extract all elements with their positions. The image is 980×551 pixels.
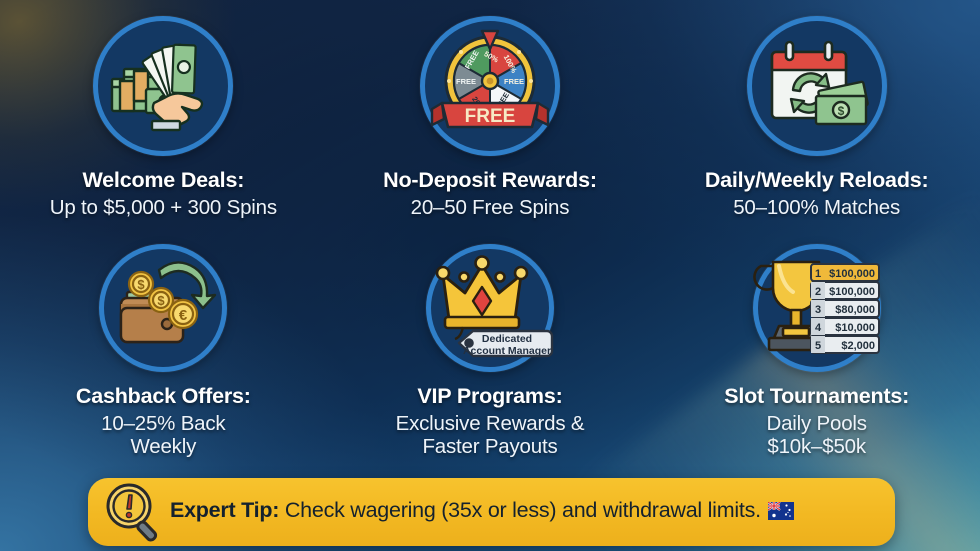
calendar-reload-icon: $ bbox=[747, 16, 887, 156]
card-daily-weekly-reloads[interactable]: $ Daily/Weekly Reloads: 50–100% Matches bbox=[653, 0, 980, 232]
expert-tip-label: Expert Tip: bbox=[170, 498, 279, 522]
leaderboard-prize: $10,000 bbox=[835, 322, 875, 334]
cash-stack-icon bbox=[93, 16, 233, 156]
card-labels: Cashback Offers: 10–25% Back Weekly bbox=[76, 384, 251, 458]
card-title: Cashback Offers: bbox=[76, 384, 251, 409]
vip-tag-line-2: Account Manager bbox=[463, 345, 551, 357]
card-no-deposit-rewards[interactable]: 50% 100% FREE FREE 20% FREE FREE bbox=[327, 0, 654, 232]
card-subtitle-1: Daily Pools bbox=[724, 412, 909, 435]
svg-text:FREE: FREE bbox=[504, 77, 524, 86]
card-title: Daily/Weekly Reloads: bbox=[705, 168, 929, 193]
vip-tag-line-1: Dedicated bbox=[482, 333, 532, 345]
svg-text:€: € bbox=[179, 307, 188, 324]
benefits-grid: Welcome Deals: Up to $5,000 + 300 Spins bbox=[0, 0, 980, 470]
card-labels: Daily/Weekly Reloads: 50–100% Matches bbox=[705, 168, 929, 219]
card-subtitle-1: Up to $5,000 + 300 Spins bbox=[50, 196, 277, 219]
card-labels: No-Deposit Rewards: 20–50 Free Spins bbox=[383, 168, 597, 219]
svg-text:$: $ bbox=[158, 293, 166, 308]
card-subtitle-2: Faster Payouts bbox=[396, 435, 585, 458]
wheel-banner-label: FREE bbox=[465, 106, 516, 127]
card-subtitle-2: $10k–$50k bbox=[724, 435, 909, 458]
card-subtitle-1: Exclusive Rewards & bbox=[396, 412, 585, 435]
leaderboard-rank: 2 bbox=[815, 286, 821, 298]
leaderboard-prize: $80,000 bbox=[835, 304, 875, 316]
expert-tip-text: Expert Tip: Check wagering (35x or less)… bbox=[170, 498, 794, 526]
leaderboard-prize: $100,000 bbox=[829, 286, 875, 298]
card-subtitle-1: 20–50 Free Spins bbox=[383, 196, 597, 219]
card-vip-programs[interactable]: Dedicated Account Manager VIP Programs: … bbox=[327, 232, 654, 470]
expert-tip-body: Check wagering (35x or less) and withdra… bbox=[279, 498, 761, 522]
card-title: Welcome Deals: bbox=[50, 168, 277, 193]
svg-text:$: $ bbox=[138, 277, 146, 292]
leaderboard-rank: 1 bbox=[815, 268, 821, 280]
leaderboard-rank: 4 bbox=[815, 322, 822, 334]
leaderboard-rank: 5 bbox=[815, 340, 821, 352]
benefits-infographic: Welcome Deals: Up to $5,000 + 300 Spins bbox=[0, 0, 980, 551]
card-title: VIP Programs: bbox=[396, 384, 585, 409]
leaderboard-prize: $100,000 bbox=[829, 268, 875, 280]
card-labels: Slot Tournaments: Daily Pools $10k–$50k bbox=[724, 384, 909, 458]
card-cashback-offers[interactable]: $ $ € Cashback Offers: 10–25% Back Weekl… bbox=[0, 232, 327, 470]
svg-text:$: $ bbox=[837, 104, 844, 118]
magnifier-alert-icon bbox=[102, 481, 164, 543]
trophy-leaderboard-icon: 1 $100,000 2 $100,000 3 $80,000 4 $10,00… bbox=[753, 244, 881, 372]
card-slot-tournaments[interactable]: 1 $100,000 2 $100,000 3 $80,000 4 $10,00… bbox=[653, 232, 980, 470]
wallet-cashback-icon: $ $ € bbox=[99, 244, 227, 372]
card-labels: Welcome Deals: Up to $5,000 + 300 Spins bbox=[50, 168, 277, 219]
leaderboard-rank: 3 bbox=[815, 304, 821, 316]
card-subtitle-1: 50–100% Matches bbox=[705, 196, 929, 219]
prize-wheel-icon: 50% 100% FREE FREE 20% FREE FREE bbox=[420, 16, 560, 156]
leaderboard-prize: $2,000 bbox=[841, 340, 875, 352]
card-subtitle-1: 10–25% Back bbox=[76, 412, 251, 435]
card-labels: VIP Programs: Exclusive Rewards & Faster… bbox=[396, 384, 585, 458]
svg-text:FREE: FREE bbox=[456, 77, 476, 86]
card-subtitle-2: Weekly bbox=[76, 435, 251, 458]
au-flag-icon bbox=[768, 501, 794, 526]
card-title: Slot Tournaments: bbox=[724, 384, 909, 409]
card-welcome-deals[interactable]: Welcome Deals: Up to $5,000 + 300 Spins bbox=[0, 0, 327, 232]
expert-tip-banner[interactable]: Expert Tip: Check wagering (35x or less)… bbox=[88, 478, 895, 546]
card-title: No-Deposit Rewards: bbox=[383, 168, 597, 193]
crown-vip-icon: Dedicated Account Manager bbox=[426, 244, 554, 372]
